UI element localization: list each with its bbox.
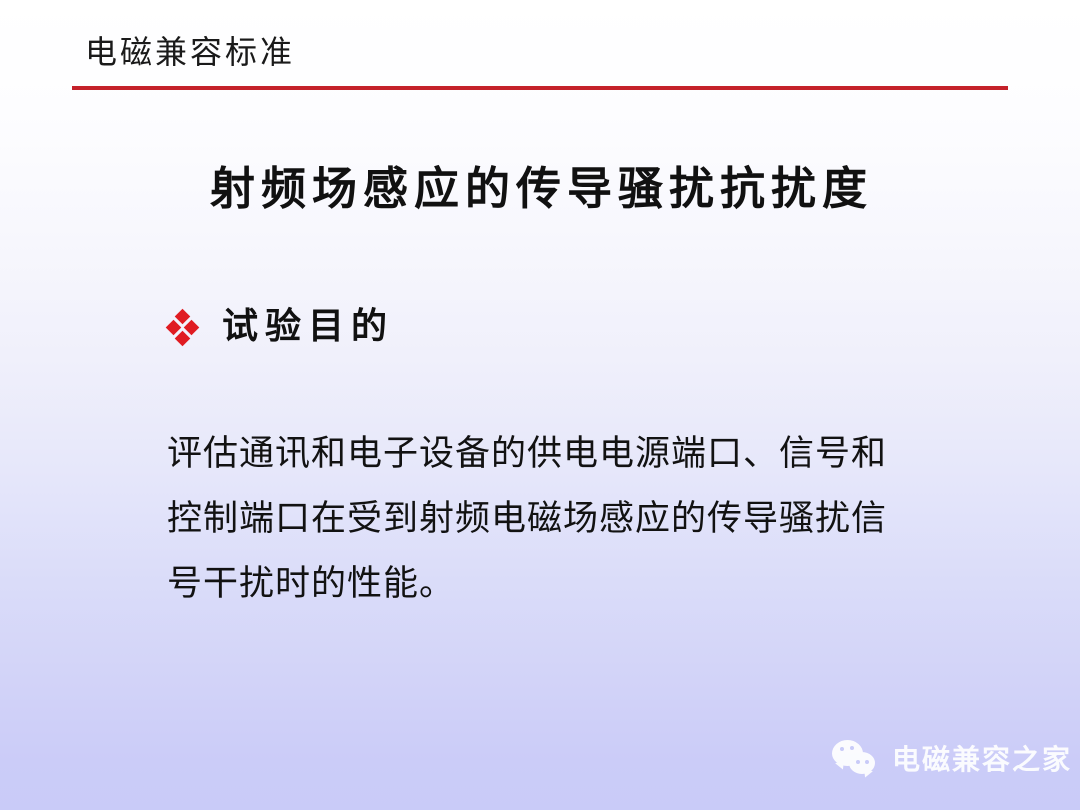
- wechat-icon: [832, 738, 884, 782]
- body-paragraph: 评估通讯和电子设备的供电电源端口、信号和 控制端口在受到射频电磁场感应的传导骚扰…: [167, 422, 927, 617]
- watermark: 电磁兼容之家: [832, 738, 1072, 782]
- bullet-heading-label: 试验目的: [222, 304, 394, 348]
- diamond-bottom: [175, 331, 191, 347]
- header-divider-rule: [72, 86, 1008, 90]
- body-line: 评估通讯和电子设备的供电电源端口、信号和: [167, 422, 927, 487]
- slide-title: 射频场感应的传导骚扰抗扰度: [210, 160, 873, 218]
- red-diamond-cluster-icon: [166, 306, 200, 346]
- wechat-eye: [840, 747, 844, 751]
- body-line: 控制端口在受到射频电磁场感应的传导骚扰信: [167, 487, 927, 552]
- bullet-heading-row: 试验目的: [166, 304, 394, 348]
- wechat-eye: [856, 760, 860, 764]
- wechat-eye: [865, 760, 869, 764]
- watermark-label: 电磁兼容之家: [892, 744, 1072, 776]
- wechat-bubble-small: [849, 752, 875, 774]
- wechat-eye: [850, 746, 854, 750]
- slide-header: 电磁兼容标准: [0, 0, 1080, 96]
- diamond-right: [184, 320, 200, 336]
- presentation-slide: 电磁兼容标准 射频场感应的传导骚扰抗扰度 试验目的 评估通讯和电子设备的供电电源…: [0, 0, 1080, 810]
- header-title: 电磁兼容标准: [85, 34, 295, 70]
- body-line: 号干扰时的性能。: [167, 552, 927, 617]
